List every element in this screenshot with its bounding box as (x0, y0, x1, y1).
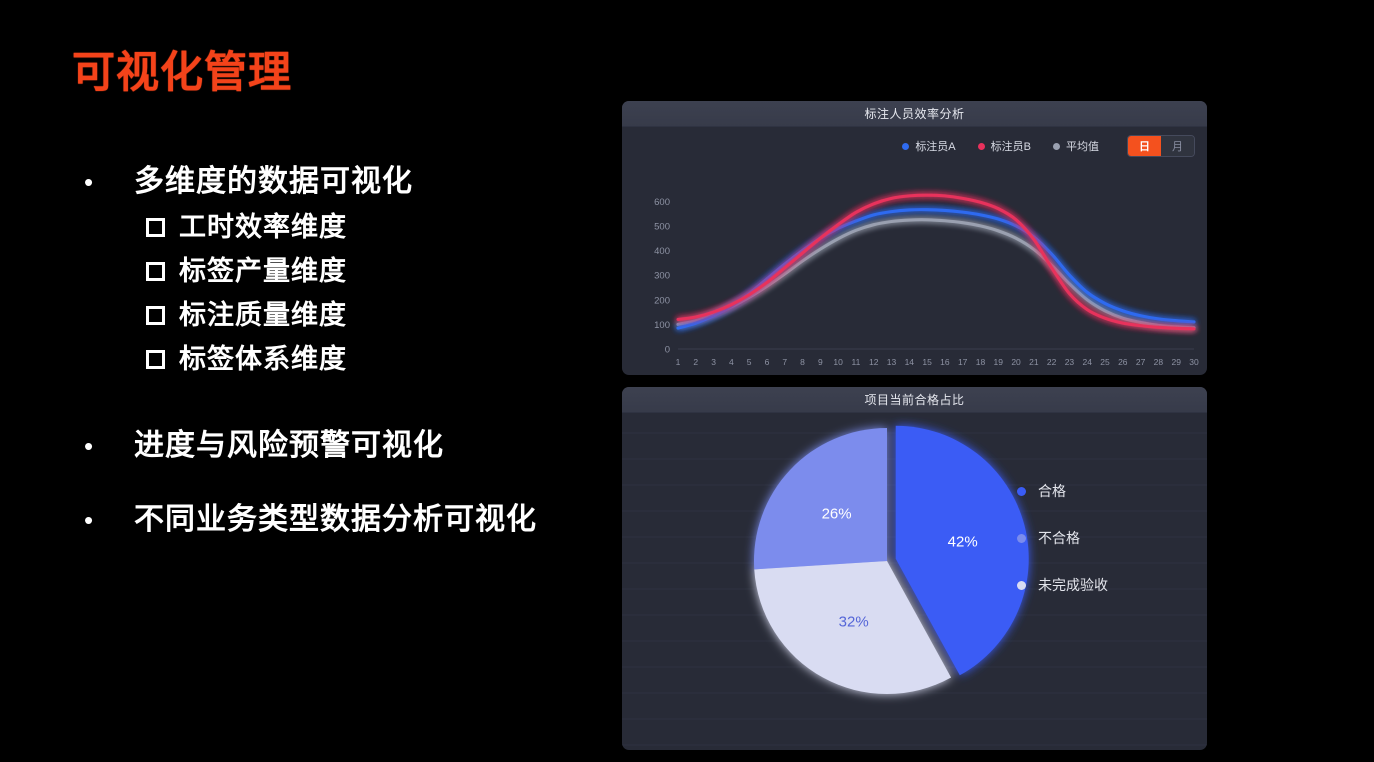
bullet-text: 多维度的数据可视化 (134, 160, 413, 204)
svg-text:100: 100 (654, 320, 670, 331)
svg-text:14: 14 (905, 357, 915, 367)
page-title: 可视化管理 (72, 38, 292, 100)
sub-bullet-list: 工时效率维度 标签产量维度 标注质量维度 标签体系维度 (146, 207, 624, 380)
svg-text:20: 20 (1011, 357, 1021, 367)
hollow-square-icon (146, 350, 165, 369)
list-item: 标注质量维度 (146, 295, 624, 336)
svg-text:18: 18 (976, 357, 986, 367)
svg-text:27: 27 (1136, 357, 1146, 367)
svg-text:2: 2 (693, 357, 698, 367)
hollow-square-icon (146, 262, 165, 281)
sub-bullet-text: 标签体系维度 (179, 339, 347, 380)
svg-text:23: 23 (1065, 357, 1075, 367)
svg-text:8: 8 (800, 357, 805, 367)
line-chart-header: 标注人员效率分析 (622, 101, 1207, 127)
sub-bullet-text: 标签产量维度 (179, 251, 347, 292)
bullet-dot-icon: • (84, 160, 106, 204)
svg-text:22: 22 (1047, 357, 1057, 367)
svg-text:11: 11 (852, 357, 861, 367)
legend-label: 不合格 (1038, 528, 1080, 548)
line-chart-body: 标注员A 标注员B 平均值 日 月 0100200300400500600123… (622, 127, 1207, 375)
list-item: • 进度与风险预警可视化 (84, 424, 624, 468)
list-item: 工时效率维度 (146, 207, 624, 248)
svg-text:16: 16 (940, 357, 950, 367)
spacer (84, 468, 624, 498)
list-item: • 不同业务类型数据分析可视化 (84, 498, 624, 542)
svg-text:7: 7 (782, 357, 787, 367)
svg-text:13: 13 (887, 357, 897, 367)
svg-text:26%: 26% (822, 506, 852, 523)
pie-chart-header: 项目当前合格占比 (622, 387, 1207, 413)
svg-text:15: 15 (922, 357, 932, 367)
hollow-square-icon (146, 306, 165, 325)
svg-text:12: 12 (869, 357, 879, 367)
bullet-text: 进度与风险预警可视化 (134, 424, 444, 468)
bullet-dot-icon: • (84, 424, 106, 468)
pie-chart-title: 项目当前合格占比 (864, 391, 964, 408)
list-item: 标签体系维度 (146, 339, 624, 380)
svg-text:28: 28 (1154, 357, 1164, 367)
list-item: 标签产量维度 (146, 251, 624, 292)
svg-text:19: 19 (994, 357, 1004, 367)
legend-item-unqualified[interactable]: 不合格 (1017, 528, 1108, 548)
spacer (84, 380, 624, 424)
svg-text:5: 5 (747, 357, 752, 367)
svg-text:4: 4 (729, 357, 734, 367)
svg-text:300: 300 (654, 271, 670, 282)
svg-text:30: 30 (1189, 357, 1199, 367)
svg-text:26: 26 (1118, 357, 1128, 367)
sub-bullet-text: 标注质量维度 (179, 295, 347, 336)
svg-text:9: 9 (818, 357, 823, 367)
legend-label: 未完成验收 (1038, 575, 1108, 595)
line-chart-card: 标注人员效率分析 标注员A 标注员B 平均值 日 月 (622, 101, 1207, 375)
line-chart-title: 标注人员效率分析 (864, 105, 964, 122)
bullet-dot-icon: • (84, 498, 106, 542)
slide-root: 可视化管理 • 多维度的数据可视化 工时效率维度 标签产量维度 标注质量维度 标… (0, 0, 1374, 762)
svg-text:1: 1 (676, 357, 681, 367)
svg-text:600: 600 (654, 197, 670, 208)
svg-text:400: 400 (654, 246, 670, 257)
svg-text:200: 200 (654, 295, 670, 306)
svg-text:25: 25 (1100, 357, 1110, 367)
bullet-list: • 多维度的数据可视化 工时效率维度 标签产量维度 标注质量维度 标签体系维度 (84, 160, 624, 542)
legend-dot-icon (1017, 534, 1026, 543)
line-chart-plot: 0100200300400500600123456789101112131415… (622, 127, 1207, 375)
svg-text:6: 6 (765, 357, 770, 367)
pie-chart-body: 42%32%26% 合格 不合格 未完成验收 (622, 413, 1207, 750)
svg-text:500: 500 (654, 221, 670, 232)
svg-text:29: 29 (1171, 357, 1181, 367)
svg-text:10: 10 (833, 357, 843, 367)
pie-chart-legend: 合格 不合格 未完成验收 (1017, 481, 1108, 622)
svg-text:32%: 32% (839, 614, 869, 631)
svg-text:3: 3 (711, 357, 716, 367)
legend-label: 合格 (1038, 481, 1066, 501)
svg-text:17: 17 (958, 357, 968, 367)
hollow-square-icon (146, 218, 165, 237)
svg-text:21: 21 (1029, 357, 1039, 367)
legend-item-qualified[interactable]: 合格 (1017, 481, 1108, 501)
bullet-text: 不同业务类型数据分析可视化 (134, 498, 537, 542)
list-item: • 多维度的数据可视化 (84, 160, 624, 204)
legend-dot-icon (1017, 487, 1026, 496)
pie-chart-plot: 42%32%26% (622, 413, 1207, 750)
pie-chart-card: 项目当前合格占比 42%32%26% 合格 不合格 未完成验收 (622, 387, 1207, 750)
svg-text:24: 24 (1083, 357, 1093, 367)
legend-item-not-accepted[interactable]: 未完成验收 (1017, 575, 1108, 595)
legend-dot-icon (1017, 581, 1026, 590)
sub-bullet-text: 工时效率维度 (179, 207, 347, 248)
svg-text:0: 0 (665, 345, 670, 356)
svg-text:42%: 42% (948, 534, 978, 551)
